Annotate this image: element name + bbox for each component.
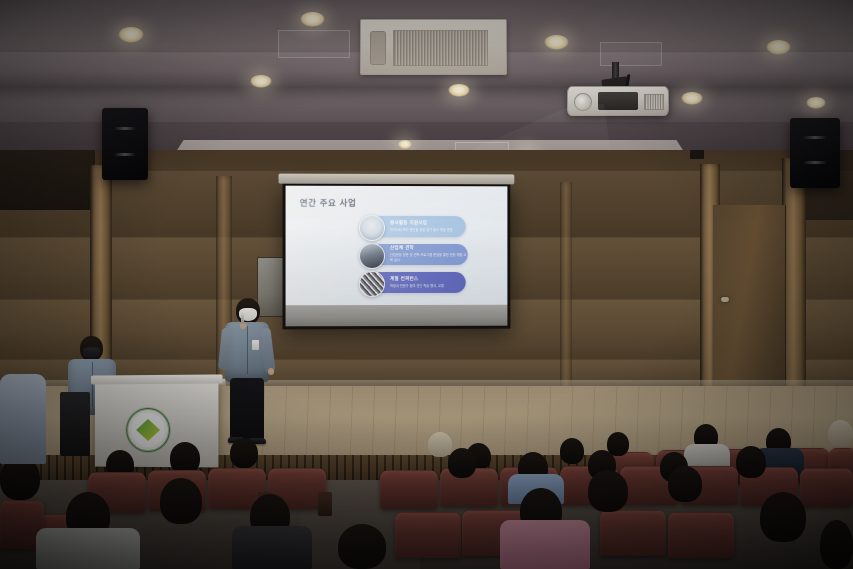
industry-visit-photo-thumb-icon <box>359 242 385 268</box>
audience-head <box>338 524 386 569</box>
audience-head <box>760 492 806 542</box>
volunteer-photo-thumb-icon <box>359 214 385 240</box>
audience-body <box>36 528 140 569</box>
theater-seat[interactable] <box>395 512 461 558</box>
slide-bullet-text: 계절 컨퍼런스 학생과 전문가 참여 연간 학술 행사, 교류 <box>390 277 444 289</box>
jacket-zipper <box>247 326 248 374</box>
right-wall-speaker <box>790 118 840 188</box>
exit-sign <box>690 150 704 159</box>
theater-seat[interactable] <box>600 510 666 556</box>
ceiling-downlight <box>300 12 325 27</box>
screen-valance-housing <box>278 174 514 185</box>
podium-equipment-box <box>60 392 90 456</box>
slide-bullet-body: 산업현장 방문 및 견학 프로그램 운영을 통한 현장 체험 교육 실시 <box>390 253 468 262</box>
ceiling-ac-cassette <box>360 19 507 75</box>
audience-body-pink <box>500 520 590 569</box>
ceiling-vent-panel <box>278 30 350 58</box>
ceiling-downlight <box>806 97 826 109</box>
podium-emblem <box>126 408 170 452</box>
presentation-slide: 연간 주요 사업 봉사활동 지원사업 지역사회 복지 증진을 위한 정기 봉사 … <box>286 186 508 306</box>
theater-seat[interactable] <box>668 512 734 558</box>
face-mask-icon <box>83 347 100 359</box>
ceiling-downlight <box>250 75 272 88</box>
ceiling-downlight <box>398 140 412 149</box>
handheld-microphone-icon <box>241 312 244 324</box>
projection-screen: 연간 주요 사업 봉사활동 지원사업 지역사회 복지 증진을 위한 정기 봉사 … <box>283 183 511 330</box>
slide-bullet-heading: 산업체 견학 <box>390 246 468 252</box>
ceiling-downlight <box>448 84 470 97</box>
projector-vent <box>644 94 664 110</box>
slide-bullet-heading: 봉사활동 지원사업 <box>390 221 453 227</box>
presenter-hand <box>268 368 274 375</box>
audience-head <box>448 448 476 478</box>
slide-bullet-row: 계절 컨퍼런스 학생과 전문가 참여 연간 학술 행사, 교류 <box>370 272 466 293</box>
conference-photo-thumb-icon <box>359 271 385 297</box>
ceiling-downlight <box>681 92 703 105</box>
ceiling-downlight <box>118 27 144 43</box>
audience-head-blonde <box>828 420 853 447</box>
podium-top-surface <box>91 374 223 384</box>
jacket-zipper <box>92 362 93 407</box>
left-wall-speaker <box>102 108 148 180</box>
slide-title: 연간 주요 사업 <box>300 197 357 209</box>
audience-body <box>232 526 312 569</box>
ceiling-downlight <box>766 40 791 55</box>
slide-bullet-text: 산업체 견학 산업현장 방문 및 견학 프로그램 운영을 통한 현장 체험 교육… <box>390 246 468 262</box>
auditorium-presentation-scene: 연간 주요 사업 봉사활동 지원사업 지역사회 복지 증진을 위한 정기 봉사 … <box>0 0 853 569</box>
audience-head <box>668 466 702 502</box>
ac-vent-slot <box>370 31 387 65</box>
id-badge <box>252 340 259 350</box>
slide-bullet-row: 산업체 견학 산업현장 방문 및 견학 프로그램 운영을 통한 현장 체험 교육… <box>370 244 468 265</box>
slide-bullet-body: 학생과 전문가 참여 연간 학술 행사, 교류 <box>390 284 444 289</box>
screen-lower-blank-area <box>286 305 508 327</box>
slide-bullet-row: 봉사활동 지원사업 지역사회 복지 증진을 위한 정기 봉사 활동 운영 <box>370 216 466 237</box>
audience-head-blonde <box>428 432 452 457</box>
side-exit-door[interactable] <box>712 205 786 390</box>
audience-body <box>0 374 46 464</box>
audience-head <box>160 478 202 524</box>
audience-head <box>230 438 258 468</box>
presenter-standing <box>216 298 280 448</box>
audience-head <box>736 446 766 478</box>
presenter-pants <box>230 378 264 440</box>
audience-head <box>588 470 628 512</box>
ceiling-projector <box>567 86 669 116</box>
door-knob-icon[interactable] <box>721 297 729 302</box>
wall-shadow-corner <box>0 150 95 210</box>
projector-lens-icon <box>574 93 592 111</box>
wall-pilaster <box>560 182 572 394</box>
ceiling-vent-panel <box>600 42 662 66</box>
seat-armrest <box>318 492 332 516</box>
slide-bullet-heading: 계절 컨퍼런스 <box>390 277 444 283</box>
slide-bullet-text: 봉사활동 지원사업 지역사회 복지 증진을 위한 정기 봉사 활동 운영 <box>390 221 453 233</box>
ceiling-downlight <box>544 35 569 50</box>
projector-body-panel <box>598 92 638 110</box>
theater-seat[interactable] <box>380 470 438 509</box>
theater-seat[interactable] <box>800 468 853 507</box>
ac-grille <box>393 30 488 67</box>
audience-head <box>820 520 853 569</box>
audience-head <box>560 438 584 464</box>
slide-bullet-body: 지역사회 복지 증진을 위한 정기 봉사 활동 운영 <box>390 228 453 233</box>
